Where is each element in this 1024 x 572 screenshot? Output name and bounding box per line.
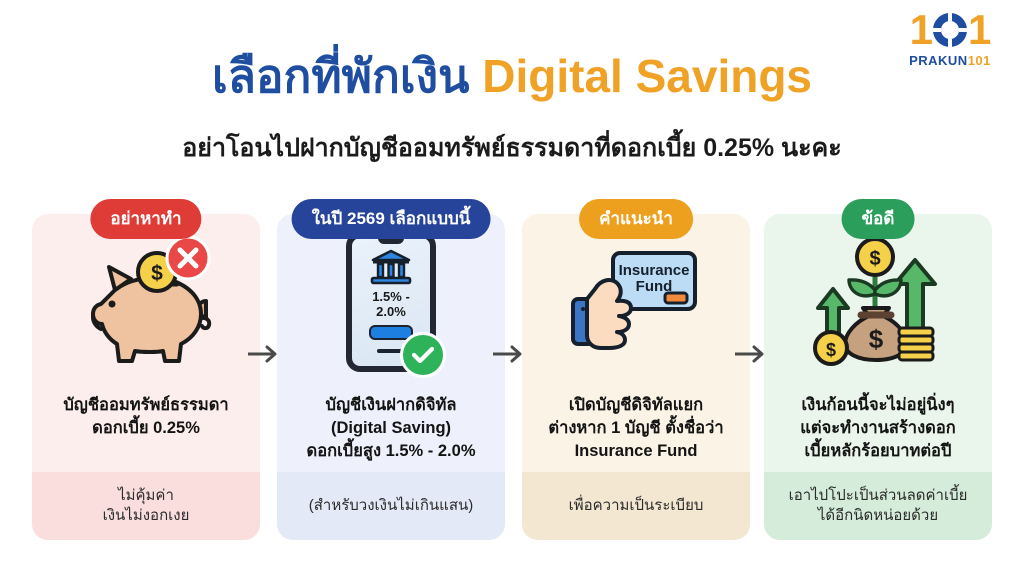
logo-zero-ring bbox=[933, 13, 967, 47]
insurance-card-label-line-1: Insurance bbox=[619, 262, 690, 279]
card-recommended-body-line-2: (Digital Saving) bbox=[307, 417, 476, 440]
cards-row: $ บัญชีออมทรัพย์ธรรมดา ดอกเบี้ย 0.25% ไม… bbox=[0, 214, 1024, 544]
pill-benefits: ข้อดี bbox=[842, 199, 915, 239]
phone-rate-line-2: 2.0% bbox=[352, 305, 430, 320]
svg-text:$: $ bbox=[869, 324, 884, 354]
card-recommended-illustration: 1.5% - 2.0% bbox=[277, 214, 505, 390]
page-title: เลือกที่พักเงิน Digital Savings bbox=[0, 52, 1024, 100]
page-subtitle: อย่าโอนไปฝากบัญชีออมทรัพย์ธรรมดาที่ดอกเบ… bbox=[0, 128, 1024, 168]
connector-arrow-2 bbox=[493, 345, 527, 363]
card-benefits-illustration: $ $ $ bbox=[764, 214, 992, 390]
card-advice-illustration: Insurance Fund bbox=[522, 214, 750, 390]
card-recommended-foot-line-1: (สำหรับวงเงินไม่เกินแสน) bbox=[309, 496, 473, 516]
logo-digit-one-right: 1 bbox=[968, 9, 990, 51]
card-benefits-foot-line-1: เอาไปโปะเป็นส่วนลดค่าเบี้ย bbox=[789, 486, 968, 506]
card-benefits-body-line-2: แต่จะทำงานสร้างดอก bbox=[800, 417, 956, 440]
phone-rate-display: 1.5% - 2.0% bbox=[352, 290, 430, 319]
phone-rate-line-1: 1.5% - bbox=[352, 290, 430, 305]
connector-arrow-3 bbox=[735, 345, 769, 363]
card-avoid-footer: ไม่คุ้มค่า เงินไม่งอกเงย bbox=[32, 472, 260, 540]
card-advice-foot-line-1: เพื่อความเป็นระเบียบ bbox=[569, 496, 704, 516]
page-title-thai: เลือกที่พักเงิน bbox=[212, 50, 470, 102]
pill-avoid: อย่าหาทำ bbox=[90, 199, 201, 239]
svg-text:$: $ bbox=[869, 248, 880, 270]
card-benefits-body-line-1: เงินก้อนนี้จะไม่อยู่นิ่งๆ bbox=[800, 394, 956, 417]
card-avoid-foot-line-1: ไม่คุ้มค่า bbox=[103, 486, 190, 506]
smartphone-icon: 1.5% - 2.0% bbox=[346, 232, 436, 372]
money-bag-growth-icon: $ $ $ bbox=[803, 232, 953, 372]
bank-icon bbox=[369, 248, 413, 286]
svg-text:$: $ bbox=[151, 262, 163, 285]
card-avoid-body-line-1: บัญชีออมทรัพย์ธรรมดา bbox=[63, 394, 228, 417]
card-benefits-footer: เอาไปโปะเป็นส่วนลดค่าเบี้ย ได้อีกนิดหน่อ… bbox=[764, 472, 992, 540]
card-benefits-foot-line-2: ได้อีกนิดหน่อยด้วย bbox=[789, 506, 968, 526]
card-avoid-illustration: $ bbox=[32, 214, 260, 390]
card-advice-body: เปิดบัญชีดิจิทัลแยก ต่างหาก 1 บัญชี ตั้ง… bbox=[522, 390, 750, 472]
card-advice-body-line-3: Insurance Fund bbox=[548, 440, 723, 463]
card-avoid-body-line-2: ดอกเบี้ย 0.25% bbox=[63, 417, 228, 440]
card-advice: Insurance Fund เปิดบัญชีดิจิทัลแยก ต่างห… bbox=[522, 214, 750, 540]
card-benefits-body: เงินก้อนนี้จะไม่อยู่นิ่งๆ แต่จะทำงานสร้า… bbox=[764, 390, 992, 472]
svg-text:$: $ bbox=[826, 340, 836, 360]
hand-holding-card-icon: Insurance Fund bbox=[561, 237, 711, 367]
logo-digit-one-left: 1 bbox=[910, 9, 932, 51]
card-benefits: $ $ $ bbox=[764, 214, 992, 540]
card-recommended-body-line-3: ดอกเบี้ยสูง 1.5% - 2.0% bbox=[307, 440, 476, 463]
card-recommended-body-line-1: บัญชีเงินฝากดิจิทัล bbox=[307, 394, 476, 417]
card-avoid-body: บัญชีออมทรัพย์ธรรมดา ดอกเบี้ย 0.25% bbox=[32, 390, 260, 472]
page-title-english: Digital Savings bbox=[482, 50, 812, 102]
card-recommended-choice: 1.5% - 2.0% บัญชีเงินฝากดิจิทัล (Digital… bbox=[277, 214, 505, 540]
piggy-bank-icon: $ bbox=[71, 232, 221, 372]
pill-recommended: ในปี 2569 เลือกแบบนี้ bbox=[292, 199, 491, 239]
card-advice-footer: เพื่อความเป็นระเบียบ bbox=[522, 472, 750, 540]
card-recommended-footer: (สำหรับวงเงินไม่เกินแสน) bbox=[277, 472, 505, 540]
logo-mark: 1 1 bbox=[898, 8, 1002, 52]
card-advice-body-line-1: เปิดบัญชีดิจิทัลแยก bbox=[548, 394, 723, 417]
card-avoid: $ บัญชีออมทรัพย์ธรรมดา ดอกเบี้ย 0.25% ไม… bbox=[32, 214, 260, 540]
connector-arrow-1 bbox=[248, 345, 282, 363]
pill-advice: คำแนะนำ bbox=[579, 199, 693, 239]
card-benefits-body-line-3: เบี้ยหลักร้อยบาทต่อปี bbox=[800, 440, 956, 463]
card-avoid-foot-line-2: เงินไม่งอกเงย bbox=[103, 506, 190, 526]
card-recommended-body: บัญชีเงินฝากดิจิทัล (Digital Saving) ดอก… bbox=[277, 390, 505, 472]
green-check-icon bbox=[400, 332, 446, 378]
card-advice-body-line-2: ต่างหาก 1 บัญชี ตั้งชื่อว่า bbox=[548, 417, 723, 440]
